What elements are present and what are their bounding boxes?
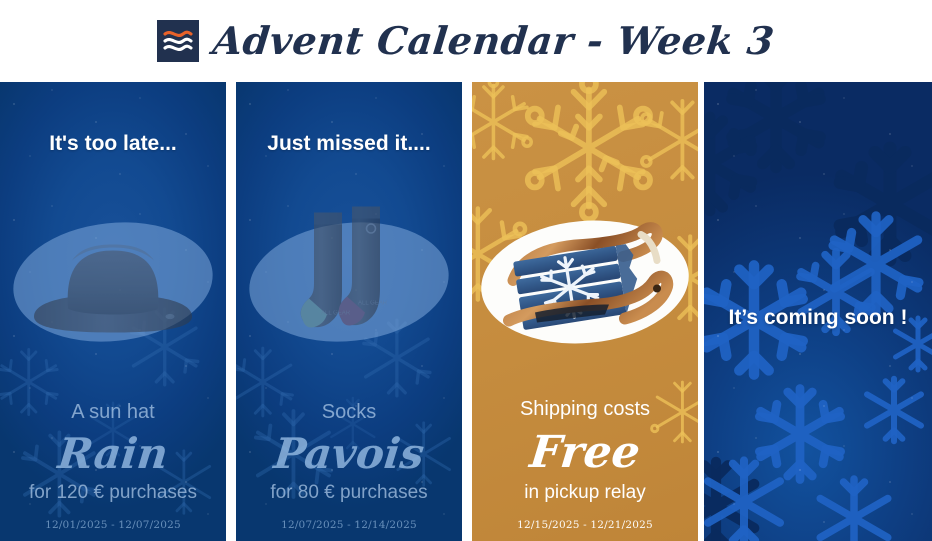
date-range: 12/15/2025 - 12/21/2025: [480, 519, 690, 531]
calendar-card-day-2[interactable]: Just missed it....: [236, 82, 472, 541]
page-title: Advent Calendar - Week 3: [211, 22, 776, 60]
card-offer-block: Socks Pavois for 80 € purchases 12/07/20…: [244, 401, 454, 531]
calendar-card-day-4[interactable]: It’s coming soon !: [704, 82, 932, 541]
socks-pair-icon: ALL GEAR ALL GEAR: [274, 205, 424, 360]
wooden-sled-icon: [491, 217, 679, 348]
product-name: A sun hat: [8, 401, 218, 424]
product-image-zone: [472, 202, 698, 362]
calendar-card-day-1[interactable]: It's too late...: [0, 82, 236, 541]
product-image-zone: ALL GEAR ALL GEAR: [236, 202, 462, 362]
date-range: 12/01/2025 - 12/07/2025: [8, 519, 218, 531]
wave-lines-logo-icon: [157, 20, 199, 62]
product-name: Shipping costs: [480, 398, 690, 421]
card-headline: It's too late...: [10, 130, 216, 158]
offer-terms: for 80 € purchases: [244, 482, 454, 505]
bucket-hat-icon: [22, 221, 204, 344]
calendar-card-day-3[interactable]: Shipping costs Free in pickup relay 12/1…: [472, 82, 704, 541]
svg-text:ALL GEAR: ALL GEAR: [321, 311, 351, 317]
offer-terms: in pickup relay: [480, 482, 690, 505]
product-image-zone: [0, 202, 226, 362]
offer-label: Rain: [5, 428, 221, 481]
card-headline: Just missed it....: [246, 130, 452, 158]
offer-label: Pavois: [241, 428, 457, 481]
card-offer-block: A sun hat Rain for 120 € purchases 12/01…: [8, 401, 218, 531]
product-name: Socks: [244, 401, 454, 424]
card-teaser-text: It’s coming soon !: [716, 304, 920, 332]
offer-label: Free: [477, 425, 693, 480]
card-offer-block: Shipping costs Free in pickup relay 12/1…: [480, 398, 690, 531]
advent-calendar-page: Advent Calendar - Week 3: [0, 0, 932, 541]
svg-text:ALL GEAR: ALL GEAR: [358, 301, 388, 307]
calendar-card-row: It's too late...: [0, 82, 932, 541]
page-header: Advent Calendar - Week 3: [0, 0, 932, 82]
date-range: 12/07/2025 - 12/14/2025: [244, 519, 454, 531]
offer-terms: for 120 € purchases: [8, 482, 218, 505]
